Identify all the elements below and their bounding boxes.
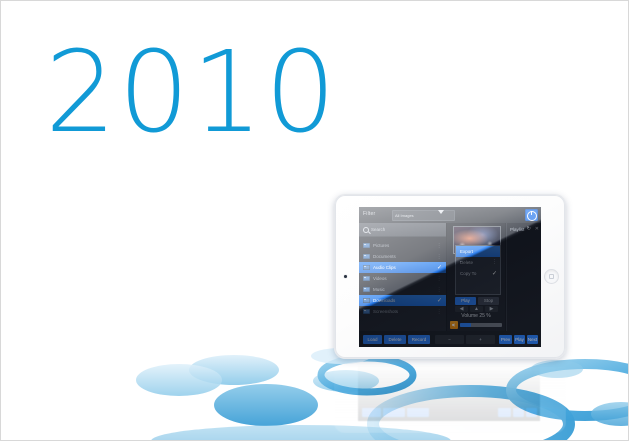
prev-button[interactable]: Prev bbox=[499, 335, 512, 344]
folder-icon bbox=[363, 309, 370, 314]
search-icon bbox=[363, 227, 369, 233]
nudge-controls: ◀ ▲ ▶ bbox=[455, 306, 499, 312]
folder-icon bbox=[363, 254, 370, 259]
volume-label: Volume 25 % bbox=[447, 313, 505, 319]
search-input[interactable]: Search bbox=[371, 227, 385, 232]
folder-icon bbox=[363, 287, 370, 292]
library-panel: Search Pictures ⋮ Documents ⋮ bbox=[359, 223, 446, 331]
menu-item-label: Copy To bbox=[460, 271, 476, 276]
volume-plus-button[interactable]: + bbox=[466, 335, 495, 344]
list-item[interactable]: Videos ⋮ bbox=[359, 273, 446, 284]
check-icon: ✓ bbox=[437, 265, 442, 271]
arrow-right-icon[interactable]: ▶ bbox=[485, 306, 498, 312]
arrow-left-icon[interactable]: ◀ bbox=[455, 306, 468, 312]
playlist-panel: Playlist ↻ ✕ bbox=[506, 223, 541, 331]
arrow-up-icon[interactable]: ▲ bbox=[470, 306, 483, 312]
play-button[interactable]: Play bbox=[455, 297, 476, 305]
context-menu: Export Delete ⋮ Copy To ✓ bbox=[455, 245, 501, 295]
playback-controls: Play Stop bbox=[455, 297, 499, 305]
search-bar[interactable]: Search bbox=[359, 223, 446, 237]
list-item-label: Screenshots bbox=[373, 309, 429, 314]
more-icon[interactable]: ⋮ bbox=[437, 288, 442, 292]
list-item[interactable]: Downloads ✓ bbox=[359, 295, 446, 306]
app-topbar: Filter All Images bbox=[359, 207, 541, 223]
menu-item-label: Export bbox=[460, 249, 473, 254]
chevron-down-icon[interactable] bbox=[438, 210, 444, 214]
library-list: Pictures ⋮ Documents ⋮ Audio Clips bbox=[359, 240, 446, 317]
power-icon bbox=[527, 211, 537, 221]
list-item[interactable]: Documents ⋮ bbox=[359, 251, 446, 262]
power-button[interactable] bbox=[525, 209, 538, 221]
menu-item-label: Delete bbox=[460, 260, 473, 265]
list-item-label: Downloads bbox=[373, 298, 429, 303]
filter-dropdown-value: All Images bbox=[395, 213, 414, 218]
check-icon: ✓ bbox=[437, 298, 442, 304]
speaker-icon[interactable] bbox=[450, 321, 458, 329]
tablet-reflection bbox=[334, 363, 566, 433]
more-icon: ⋮ bbox=[492, 260, 497, 265]
preview-panel: Export Delete ⋮ Copy To ✓ bbox=[447, 223, 505, 331]
folder-icon bbox=[363, 265, 370, 270]
volume-minus-button[interactable]: − bbox=[435, 335, 464, 344]
delete-button[interactable]: Delete bbox=[384, 335, 406, 344]
list-item-label: Music bbox=[373, 287, 429, 292]
playlist-title: Playlist bbox=[510, 227, 524, 232]
folder-icon bbox=[363, 276, 370, 281]
more-icon[interactable]: ⋮ bbox=[437, 310, 442, 314]
next-button[interactable]: Next bbox=[527, 335, 538, 344]
list-item-label: Audio Clips bbox=[373, 265, 429, 270]
more-icon[interactable]: ⋮ bbox=[437, 244, 442, 248]
menu-item-delete[interactable]: Delete ⋮ bbox=[456, 257, 500, 268]
folder-icon bbox=[363, 298, 370, 303]
list-item[interactable]: Music ⋮ bbox=[359, 284, 446, 295]
list-item[interactable]: Audio Clips ✓ bbox=[359, 262, 446, 273]
topbar-title: Filter bbox=[363, 211, 375, 217]
app-bottom-bar: Load Delete Record − + Prev Play Next bbox=[359, 331, 541, 347]
play-bottom-button[interactable]: Play bbox=[514, 335, 525, 344]
menu-item-export[interactable]: Export bbox=[456, 246, 500, 257]
close-icon[interactable]: ✕ bbox=[535, 227, 539, 232]
more-icon[interactable]: ⋮ bbox=[437, 277, 442, 281]
stop-button[interactable]: Stop bbox=[478, 297, 499, 305]
tablet-frame: Filter All Images Search bbox=[334, 194, 566, 359]
volume-fill bbox=[460, 323, 471, 327]
list-item-label: Videos bbox=[373, 276, 429, 281]
list-item-label: Pictures bbox=[373, 243, 429, 248]
app-ui: Filter All Images Search bbox=[359, 207, 541, 347]
home-button[interactable] bbox=[544, 269, 559, 284]
more-icon[interactable]: ⋮ bbox=[437, 255, 442, 259]
check-icon: ✓ bbox=[492, 271, 497, 277]
playlist-header: Playlist ↻ ✕ bbox=[507, 223, 541, 235]
tablet-screen: Filter All Images Search bbox=[359, 207, 541, 347]
folder-icon bbox=[363, 243, 370, 248]
front-camera-icon bbox=[344, 275, 347, 278]
list-item[interactable]: Screenshots ⋮ bbox=[359, 306, 446, 317]
volume-slider[interactable] bbox=[450, 321, 502, 329]
page-title: 2010 bbox=[45, 37, 338, 149]
slide-canvas: 2010 Filter All Images bbox=[0, 0, 629, 441]
record-button[interactable]: Record bbox=[408, 335, 430, 344]
volume-track[interactable] bbox=[460, 323, 502, 327]
filter-dropdown[interactable]: All Images bbox=[392, 210, 455, 221]
list-item-label: Documents bbox=[373, 254, 429, 259]
refresh-icon[interactable]: ↻ bbox=[527, 227, 531, 232]
list-item[interactable]: Pictures ⋮ bbox=[359, 240, 446, 251]
tablet-device: Filter All Images Search bbox=[334, 194, 566, 359]
load-button[interactable]: Load bbox=[363, 335, 382, 344]
menu-item-copy-to[interactable]: Copy To ✓ bbox=[456, 268, 500, 279]
